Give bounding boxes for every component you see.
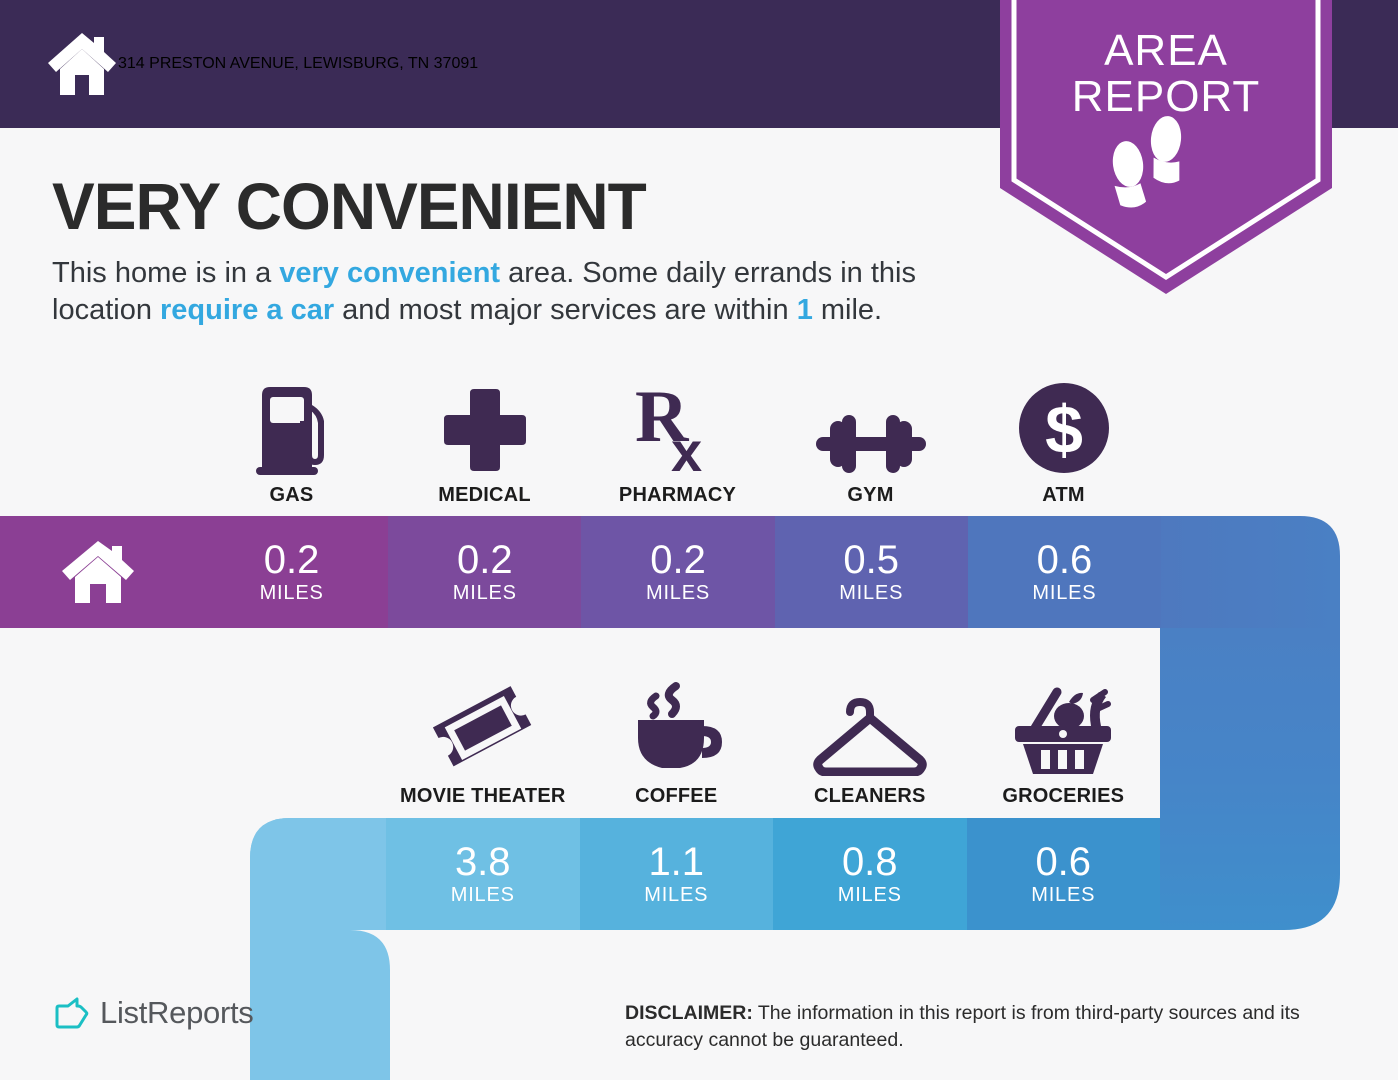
row2-icon-strip: MOVIE THEATER COFFEE CLEANERS <box>386 668 1160 808</box>
distance-unit: MILES <box>838 884 902 907</box>
row1-icon-strip: GAS MEDICAL R x PHARMACY <box>195 372 1160 507</box>
dumbbell-icon <box>816 379 926 475</box>
distance-cell-medical: 0.2 MILES <box>388 516 581 628</box>
category-label: MEDICAL <box>438 484 531 507</box>
distance-unit: MILES <box>646 582 710 605</box>
home-marker <box>0 516 195 628</box>
listreports-house-tag-icon <box>55 996 89 1030</box>
category-label: GYM <box>847 484 893 507</box>
badge-text: AREA REPORT <box>1000 28 1332 120</box>
badge-line-1: AREA <box>1000 28 1332 74</box>
svg-text:x: x <box>671 420 702 475</box>
logo-text: ListReports <box>100 995 254 1031</box>
listreports-logo: ListReports <box>55 995 254 1031</box>
distance-value: 0.5 <box>843 539 899 581</box>
category-gym: GYM <box>774 372 967 507</box>
distance-value: 0.8 <box>842 841 898 883</box>
distance-unit: MILES <box>644 884 708 907</box>
category-label: COFFEE <box>635 785 717 808</box>
summary-part-4: mile. <box>813 294 882 326</box>
distance-cell-atm: 0.6 MILES <box>968 516 1161 628</box>
distance-unit: MILES <box>451 884 515 907</box>
row2-distance-strip: 3.8 MILES 1.1 MILES 0.8 MILES 0.6 MILES <box>386 818 1160 930</box>
category-cleaners: CLEANERS <box>773 668 967 808</box>
area-report-infographic: 314 PRESTON AVENUE, LEWISBURG, TN 37091 … <box>0 0 1398 1080</box>
distance-value: 0.2 <box>650 539 706 581</box>
distance-value: 0.2 <box>264 539 320 581</box>
summary-highlight-1: very convenient <box>279 257 500 289</box>
category-label: GAS <box>270 484 314 507</box>
distance-unit: MILES <box>1032 582 1096 605</box>
distance-value: 3.8 <box>455 841 511 883</box>
distance-cell-movie-theater: 3.8 MILES <box>386 818 580 930</box>
category-label: MOVIE THEATER <box>400 785 566 808</box>
category-label: ATM <box>1042 484 1084 507</box>
area-report-badge: AREA REPORT <box>1000 0 1332 294</box>
category-movie-theater: MOVIE THEATER <box>386 668 580 808</box>
category-label: GROCERIES <box>1002 785 1124 808</box>
category-label: PHARMACY <box>619 484 736 507</box>
distance-cell-groceries: 0.6 MILES <box>967 818 1161 930</box>
disclaimer-label: DISCLAIMER: <box>625 1002 753 1024</box>
distance-value: 0.6 <box>1037 539 1093 581</box>
gas-pump-icon <box>248 379 336 475</box>
summary-part-3: and most major services are within <box>334 294 797 326</box>
distance-value: 0.2 <box>457 539 513 581</box>
page-title: VERY CONVENIENT <box>52 168 646 244</box>
category-pharmacy: R x PHARMACY <box>581 372 774 507</box>
summary-highlight-3: 1 <box>797 294 813 326</box>
rx-icon: R x <box>633 379 723 475</box>
distance-cell-coffee: 1.1 MILES <box>580 818 774 930</box>
movie-ticket-icon <box>433 680 533 776</box>
category-medical: MEDICAL <box>388 372 581 507</box>
header-address: 314 PRESTON AVENUE, LEWISBURG, TN 37091 <box>118 55 478 73</box>
distance-cell-pharmacy: 0.2 MILES <box>581 516 774 628</box>
distance-value: 0.6 <box>1035 841 1091 883</box>
category-groceries: GROCERIES <box>967 668 1161 808</box>
distance-value: 1.1 <box>648 841 704 883</box>
home-icon <box>62 541 134 603</box>
distance-unit: MILES <box>839 582 903 605</box>
home-icon <box>46 31 118 97</box>
distance-unit: MILES <box>260 582 324 605</box>
medical-cross-icon <box>440 379 530 475</box>
distance-unit: MILES <box>1031 884 1095 907</box>
summary-text: This home is in a very convenient area. … <box>52 255 1002 329</box>
category-gas: GAS <box>195 372 388 507</box>
shopping-basket-icon <box>1011 680 1115 776</box>
category-label: CLEANERS <box>814 785 926 808</box>
clothes-hanger-icon <box>812 680 928 776</box>
dollar-circle-icon: $ <box>1017 379 1111 475</box>
badge-line-2: REPORT <box>1000 74 1332 120</box>
distance-cell-gas: 0.2 MILES <box>195 516 388 628</box>
category-atm: $ ATM <box>967 372 1160 507</box>
svg-text:$: $ <box>1045 392 1083 468</box>
summary-highlight-2: require a car <box>160 294 334 326</box>
disclaimer: DISCLAIMER: The information in this repo… <box>625 1000 1355 1054</box>
coffee-cup-icon <box>628 680 724 776</box>
category-coffee: COFFEE <box>580 668 774 808</box>
summary-part-1: This home is in a <box>52 257 279 289</box>
distance-cell-gym: 0.5 MILES <box>775 516 968 628</box>
distance-cell-cleaners: 0.8 MILES <box>773 818 967 930</box>
row1-distance-strip: 0.2 MILES 0.2 MILES 0.2 MILES 0.5 MILES … <box>195 516 1161 628</box>
distance-unit: MILES <box>453 582 517 605</box>
